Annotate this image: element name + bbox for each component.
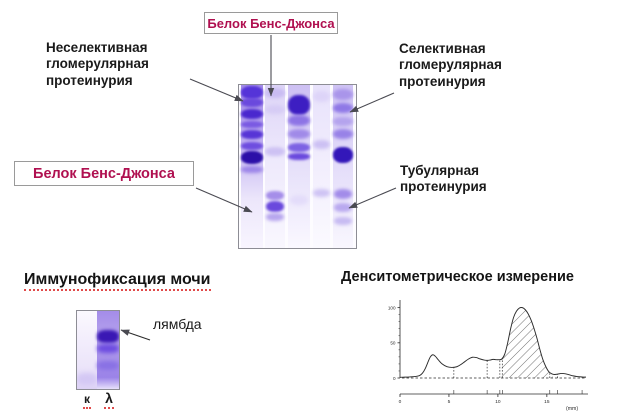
label-nonselective-line-2: гломерулярная xyxy=(46,56,149,72)
gel-band xyxy=(313,91,330,102)
label-nonselective-glomerular-proteinuria: Неселективная гломерулярная протеинурия xyxy=(46,40,149,89)
gel-band xyxy=(288,115,310,126)
ifx-band xyxy=(97,361,119,370)
ifx-lane-label-lambda: λ xyxy=(100,390,118,406)
chart-y-ticks: 050100 xyxy=(388,305,400,380)
chart-x-tick-label: 15 xyxy=(544,399,550,405)
label-selective-glomerular-proteinuria: Селективная гломерулярная протеинурия xyxy=(399,41,502,90)
ifx-band xyxy=(77,373,97,385)
gel-band xyxy=(334,203,352,212)
chart-unit-label: (mm) xyxy=(566,406,578,412)
gel-band xyxy=(241,166,263,173)
chart-densitometry-curve xyxy=(400,307,586,377)
gel-lane-5 xyxy=(333,85,353,248)
label-nonselective-line-3: протеинурия xyxy=(46,73,149,89)
gel-band xyxy=(333,117,353,126)
callout-bence-jones-left-text: Белок Бенс-Джонса xyxy=(33,166,175,182)
chart-x-tick-label: 5 xyxy=(448,399,451,405)
gel-band xyxy=(241,130,263,139)
electrophoresis-gel-image xyxy=(238,84,357,249)
gel-band xyxy=(333,103,353,113)
gel-band xyxy=(288,95,310,115)
gel-band xyxy=(333,129,353,139)
gel-band xyxy=(313,189,330,197)
ifx-lane-label-kappa-text: к xyxy=(83,392,91,409)
label-nonselective-line-1: Неселективная xyxy=(46,40,149,56)
heading-densitometry: Денситометрическое измерение xyxy=(341,269,574,285)
gel-lane-2 xyxy=(265,85,285,248)
immunofixation-gel-image xyxy=(76,310,120,390)
gel-lane-3 xyxy=(288,85,310,248)
ifx-lane-label-lambda-text: λ xyxy=(104,390,114,409)
gel-band xyxy=(334,189,352,199)
chart-x-tick-label: 0 xyxy=(399,399,402,405)
heading-immunofixation-text: Иммунофиксация мочи xyxy=(24,271,211,291)
heading-immunofixation: Иммунофиксация мочи xyxy=(24,271,211,289)
ifx-lane-label-kappa: к xyxy=(78,392,96,406)
label-selective-line-2: гломерулярная xyxy=(399,57,502,73)
arrow-nonselective-to-lane1 xyxy=(190,79,243,101)
chart-x-ticks: 051015 xyxy=(399,394,550,405)
gel-band xyxy=(266,213,284,221)
gel-band xyxy=(241,109,263,119)
label-tubular-line-2: протеинурия xyxy=(400,179,487,195)
chart-y-tick-label: 100 xyxy=(388,305,396,310)
gel-band xyxy=(241,142,263,150)
gel-band xyxy=(241,98,263,107)
gel-band xyxy=(241,151,263,164)
arrow-lambda-to-ifx-band xyxy=(121,330,150,340)
gel-band xyxy=(333,89,353,100)
chart-mspike-hatched-area xyxy=(502,308,553,378)
chart-y-tick-label: 50 xyxy=(390,341,396,346)
gel-band xyxy=(241,121,263,128)
gel-band xyxy=(290,195,308,205)
callout-bence-jones-top-text: Белок Бенс-Джонса xyxy=(207,16,334,31)
gel-band xyxy=(266,191,284,200)
ifx-lane-lambda xyxy=(97,311,119,389)
ifx-band-monoclonal xyxy=(97,330,119,343)
gel-lane-1 xyxy=(241,85,263,248)
gel-band xyxy=(333,147,353,163)
gel-lane-4 xyxy=(313,85,330,248)
label-lambda-text: лямбда xyxy=(153,316,202,332)
gel-band xyxy=(288,143,310,152)
label-selective-line-1: Селективная xyxy=(399,41,502,57)
label-tubular-line-1: Тубулярная xyxy=(400,163,487,179)
gel-band xyxy=(288,153,310,160)
gel-band xyxy=(265,88,285,98)
chart-y-tick-label: 0 xyxy=(393,376,396,381)
callout-bence-jones-top: Белок Бенс-Джонса xyxy=(204,12,338,34)
gel-band xyxy=(334,217,352,225)
label-lambda: лямбда xyxy=(153,316,202,333)
callout-bence-jones-left: Белок Бенс-Джонса xyxy=(14,161,194,186)
gel-band xyxy=(265,105,285,114)
densitometry-chart: 050100 051015 (mm) xyxy=(370,296,600,414)
ifx-band xyxy=(97,344,119,353)
label-tubular-proteinuria: Тубулярная протеинурия xyxy=(400,163,487,196)
gel-band xyxy=(265,147,285,156)
gel-band xyxy=(288,129,310,139)
heading-densitometry-text: Денситометрическое измерение xyxy=(341,269,574,285)
gel-band xyxy=(266,201,284,212)
gel-band xyxy=(313,140,330,149)
ifx-lane-kappa xyxy=(77,311,97,389)
label-selective-line-3: протеинурия xyxy=(399,74,502,90)
chart-x-tick-label: 10 xyxy=(495,399,501,405)
